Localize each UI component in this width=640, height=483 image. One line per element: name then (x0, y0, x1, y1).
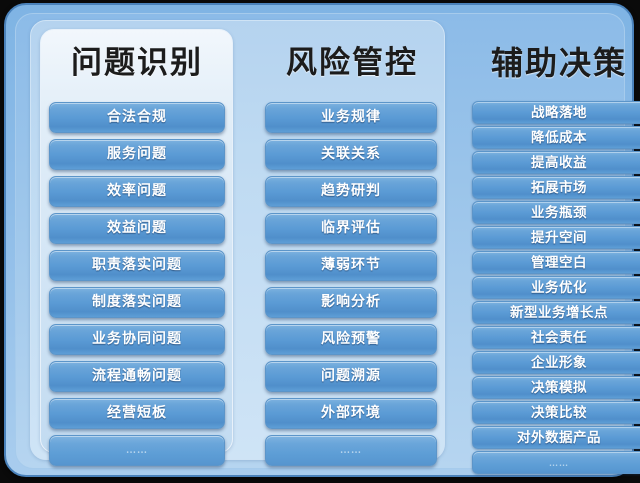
capability-chip[interactable]: 提高收益 (472, 151, 640, 174)
capability-chip[interactable]: 新型业务增长点 (472, 301, 640, 324)
capability-chip[interactable]: 战略落地 (472, 101, 640, 124)
capability-map-diagram: 问题识别 合法合规服务问题效率问题效益问题职责落实问题制度落实问题业务协同问题流… (0, 0, 640, 483)
column-risk-control: 风险管控 业务规律关联关系趋势研判临界评估薄弱环节影响分析风险预警问题溯源外部环… (261, 14, 443, 472)
column-decision-support: 辅助决策 战略落地降低成本提高收益拓展市场业务瓶颈提升空间管理空白业务优化新型业… (468, 14, 640, 476)
capability-chip[interactable]: 决策模拟 (472, 376, 640, 399)
capability-chip[interactable]: 流程通畅问题 (49, 361, 225, 392)
column-problem-identification: 问题识别 合法合规服务问题效率问题效益问题职责落实问题制度落实问题业务协同问题流… (42, 14, 232, 472)
capability-chip[interactable]: 企业形象 (472, 351, 640, 374)
capability-chip[interactable]: 职责落实问题 (49, 250, 225, 281)
capability-chip[interactable]: 提升空间 (472, 226, 640, 249)
capability-chip[interactable]: 业务优化 (472, 276, 640, 299)
column-title: 辅助决策 (468, 14, 640, 79)
capability-chip[interactable]: 业务瓶颈 (472, 201, 640, 224)
capability-chip[interactable]: 业务协同问题 (49, 324, 225, 355)
capability-chip[interactable]: 关联关系 (265, 139, 437, 170)
column-item-list: 战略落地降低成本提高收益拓展市场业务瓶颈提升空间管理空白业务优化新型业务增长点社… (468, 101, 640, 474)
capability-chip[interactable]: 管理空白 (472, 251, 640, 274)
capability-chip[interactable]: 社会责任 (472, 326, 640, 349)
capability-chip[interactable]: 对外数据产品 (472, 426, 640, 449)
capability-chip[interactable]: 效益问题 (49, 213, 225, 244)
capability-chip[interactable]: 外部环境 (265, 398, 437, 429)
capability-chip[interactable]: 临界评估 (265, 213, 437, 244)
capability-chip[interactable]: 决策比较 (472, 401, 640, 424)
capability-chip[interactable]: 拓展市场 (472, 176, 640, 199)
capability-chip[interactable]: 趋势研判 (265, 176, 437, 207)
capability-chip[interactable]: 降低成本 (472, 126, 640, 149)
capability-chip[interactable]: 经营短板 (49, 398, 225, 429)
column-title: 问题识别 (42, 14, 232, 78)
capability-chip[interactable]: 业务规律 (265, 102, 437, 133)
outer-frame-inner: 问题识别 合法合规服务问题效率问题效益问题职责落实问题制度落实问题业务协同问题流… (15, 13, 625, 469)
capability-chip[interactable]: 影响分析 (265, 287, 437, 318)
outer-frame: 问题识别 合法合规服务问题效率问题效益问题职责落实问题制度落实问题业务协同问题流… (4, 3, 634, 477)
more-items-chip[interactable]: …… (49, 435, 225, 466)
capability-chip[interactable]: 问题溯源 (265, 361, 437, 392)
capability-chip[interactable]: 制度落实问题 (49, 287, 225, 318)
column-title: 风险管控 (261, 14, 443, 78)
column-item-list: 合法合规服务问题效率问题效益问题职责落实问题制度落实问题业务协同问题流程通畅问题… (42, 102, 232, 466)
column-item-list: 业务规律关联关系趋势研判临界评估薄弱环节影响分析风险预警问题溯源外部环境…… (261, 102, 443, 466)
capability-chip[interactable]: 合法合规 (49, 102, 225, 133)
capability-chip[interactable]: 薄弱环节 (265, 250, 437, 281)
capability-chip[interactable]: 效率问题 (49, 176, 225, 207)
more-items-chip[interactable]: …… (265, 435, 437, 466)
capability-chip[interactable]: 风险预警 (265, 324, 437, 355)
capability-chip[interactable]: 服务问题 (49, 139, 225, 170)
more-items-chip[interactable]: …… (472, 451, 640, 474)
